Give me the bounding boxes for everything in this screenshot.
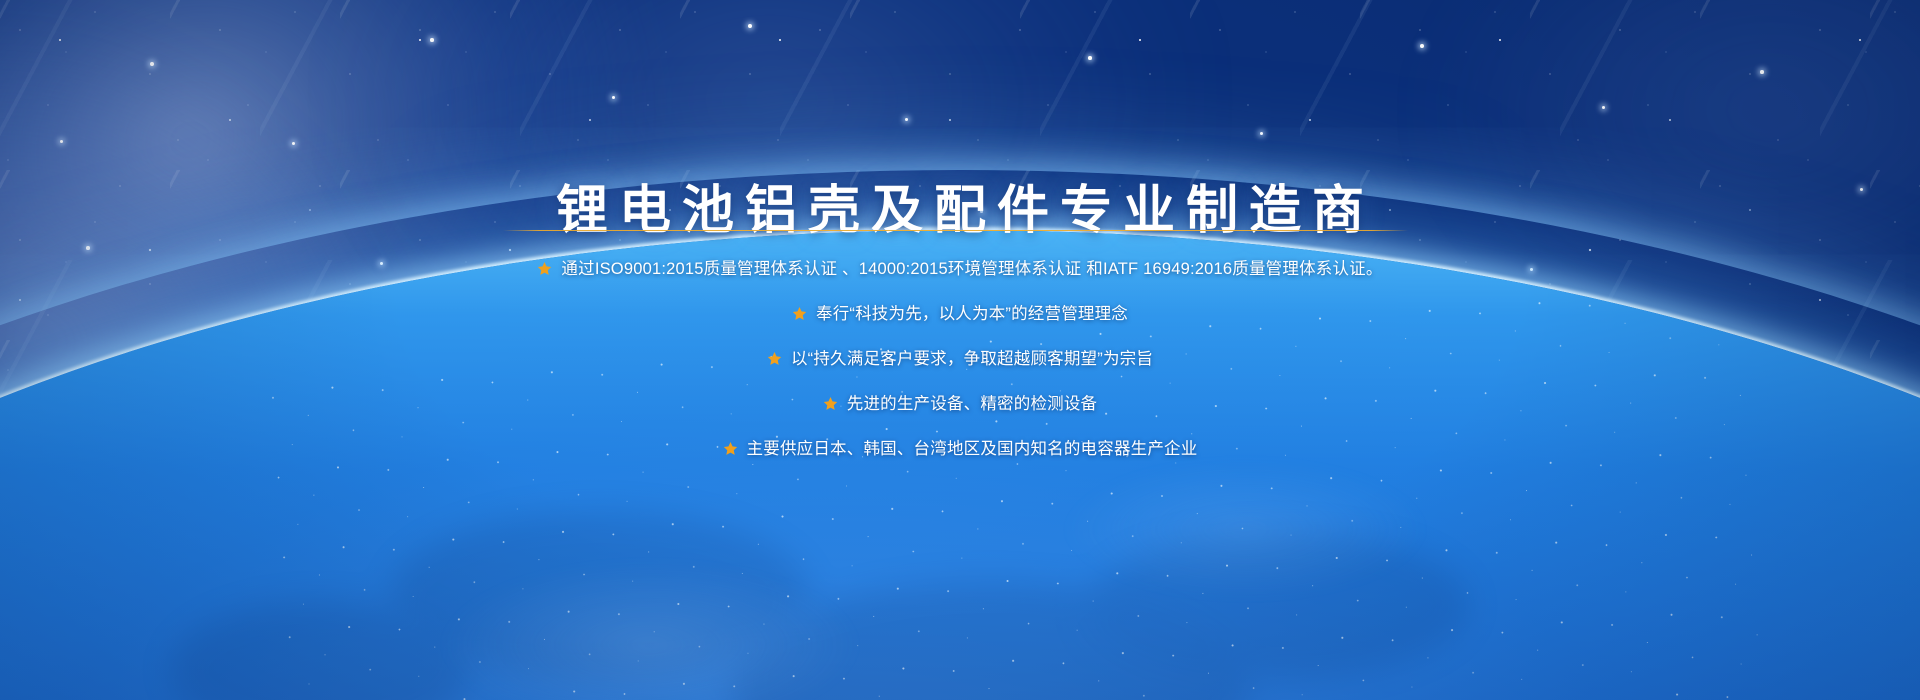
star-icon	[823, 396, 838, 411]
star-icon	[723, 441, 738, 456]
list-item: 主要供应日本、韩国、台湾地区及国内知名的电容器生产企业	[0, 427, 1920, 472]
star-icon	[767, 351, 782, 366]
list-item-label: 通过ISO9001:2015质量管理体系认证 、14000:2015环境管理体系…	[561, 261, 1382, 278]
banner-content: 锂电池铝壳及配件专业制造商 通过ISO9001:2015质量管理体系认证 、14…	[0, 0, 1920, 700]
list-item-label: 主要供应日本、韩国、台湾地区及国内知名的电容器生产企业	[747, 441, 1198, 458]
list-item: 通过ISO9001:2015质量管理体系认证 、14000:2015环境管理体系…	[0, 247, 1920, 292]
list-item-label: 以“持久满足客户要求，争取超越顾客期望”为宗旨	[791, 351, 1153, 368]
banner-title: 锂电池铝壳及配件专业制造商	[0, 183, 1920, 240]
list-item: 奉行“科技为先，以人为本”的经营管理理念	[0, 292, 1920, 337]
feature-list: 通过ISO9001:2015质量管理体系认证 、14000:2015环境管理体系…	[0, 247, 1920, 472]
star-icon	[537, 261, 552, 276]
star-icon	[792, 306, 807, 321]
hero-banner: 锂电池铝壳及配件专业制造商 通过ISO9001:2015质量管理体系认证 、14…	[0, 0, 1920, 700]
list-item-label: 奉行“科技为先，以人为本”的经营管理理念	[816, 306, 1128, 323]
title-divider	[503, 230, 1408, 231]
list-item-label: 先进的生产设备、精密的检测设备	[847, 396, 1098, 413]
list-item: 先进的生产设备、精密的检测设备	[0, 382, 1920, 427]
list-item: 以“持久满足客户要求，争取超越顾客期望”为宗旨	[0, 337, 1920, 382]
